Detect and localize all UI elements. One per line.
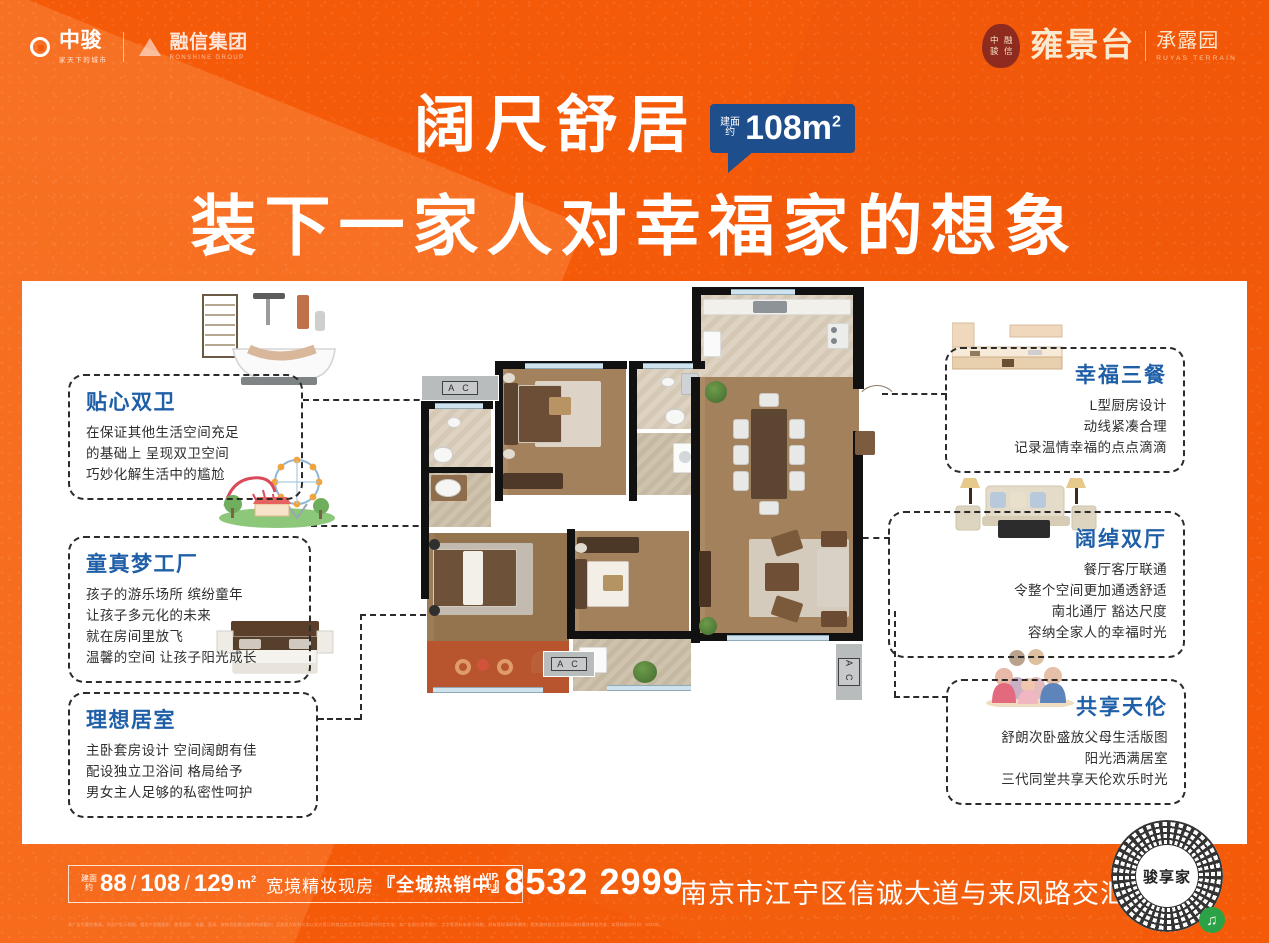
promo-area-1: 88 bbox=[100, 870, 127, 898]
headline-line-1: 阔尺舒居 bbox=[414, 92, 698, 157]
sofa bbox=[817, 549, 849, 607]
ac-unit-center: A C bbox=[543, 651, 595, 677]
side-table bbox=[821, 531, 847, 547]
ac-label: A C bbox=[838, 658, 860, 686]
vip-label-group: VIP 025 bbox=[482, 872, 498, 893]
floor-plan: A C A C bbox=[407, 281, 907, 811]
qr-center-label: 骏享家 bbox=[1136, 845, 1198, 907]
callout-title: 童真梦工厂 bbox=[86, 548, 293, 578]
balcony-decor bbox=[455, 659, 471, 675]
coffee-table bbox=[765, 563, 799, 591]
dining-chair bbox=[733, 445, 749, 465]
lamp bbox=[503, 449, 515, 459]
window bbox=[525, 363, 603, 369]
window bbox=[727, 635, 829, 641]
window bbox=[607, 685, 691, 691]
promo-description: 宽境精妆现房 bbox=[266, 872, 374, 897]
developer-secondary-en: RONSHINE GROUP bbox=[170, 55, 248, 61]
side-table bbox=[429, 539, 440, 550]
callout-line: L型厨房设计 bbox=[963, 396, 1167, 417]
callout-line: 阳光洒满居室 bbox=[964, 749, 1168, 770]
headline-line-2: 装下一家人对幸福家的想象 bbox=[0, 173, 1269, 269]
project-sub-name-en: RUYAS TERRAIN bbox=[1156, 55, 1237, 62]
area-badge-number: 108m bbox=[745, 109, 832, 147]
plant bbox=[699, 617, 717, 635]
callout-line: 温馨的空间 让孩子阳光成长 bbox=[86, 648, 293, 669]
wall bbox=[853, 291, 864, 383]
area-badge: 建面 约 108m2 bbox=[710, 104, 855, 153]
wechat-icon: ♫ bbox=[1199, 907, 1225, 933]
dining-table bbox=[751, 409, 787, 499]
stove bbox=[827, 323, 849, 349]
sink bbox=[661, 377, 675, 387]
promo-separator-2: / bbox=[184, 873, 190, 896]
window bbox=[731, 289, 795, 295]
stove-burner bbox=[831, 327, 837, 333]
callout-title: 阔绰双厅 bbox=[906, 523, 1167, 553]
project-sub-name: 承露园 bbox=[1156, 31, 1237, 51]
callout-line: 孩子的游乐场所 缤纷童年 bbox=[86, 585, 293, 606]
developer-primary-tagline: 家天下的城市 bbox=[59, 54, 108, 64]
bathtub-icon bbox=[197, 291, 342, 386]
sink bbox=[447, 417, 461, 428]
callout-line: 令整个空间更加通透舒适 bbox=[906, 581, 1167, 602]
ronshine-logo-icon bbox=[139, 38, 161, 56]
developer-secondary-name: 融信集团 bbox=[170, 33, 248, 52]
promo-unit-text: m bbox=[237, 876, 251, 893]
project-seal-icon: 中 融 骏 信 bbox=[982, 24, 1020, 68]
legal-disclaimer: 本广告为要约邀请，不因户型示例图、相关户型图面积、使用面积、电器、家具、装饰及配… bbox=[68, 922, 1119, 928]
wall bbox=[567, 529, 575, 639]
wall bbox=[853, 431, 863, 639]
seal-char-4: 信 bbox=[1001, 46, 1015, 57]
wall bbox=[853, 377, 864, 389]
callout-line: 巧妙化解生活中的尴尬 bbox=[86, 465, 285, 486]
logo-divider bbox=[123, 32, 124, 62]
dining-chair bbox=[759, 501, 779, 515]
promo-area-3: 129 bbox=[194, 870, 234, 898]
callout-title: 共享天伦 bbox=[964, 691, 1168, 721]
lamp bbox=[575, 543, 587, 553]
seal-char-1: 中 bbox=[987, 35, 1001, 46]
promo-prefix: 建面 约 bbox=[81, 875, 97, 893]
wall bbox=[421, 467, 493, 473]
entry-door-swing bbox=[855, 385, 899, 429]
callout-master-bedroom[interactable]: 理想居室 主卧套房设计 空间阔朗有佳 配设独立卫浴间 格局给予 男女主人足够的私… bbox=[68, 692, 318, 818]
callout-family-together[interactable]: 共享天伦 舒朗次卧盛放父母生活版图 阳光洒满居室 三代同堂共享天伦欢乐时光 bbox=[946, 679, 1186, 805]
callout-line: 主卧套房设计 空间阔朗有佳 bbox=[86, 741, 300, 762]
callout-line: 容纳全家人的幸福时光 bbox=[906, 623, 1167, 644]
project-logo-group: 中 融 骏 信 雍景台 承露园 RUYAS TERRAIN bbox=[982, 24, 1237, 68]
ac-unit-right: A C bbox=[835, 643, 863, 701]
callout-title: 理想居室 bbox=[86, 704, 300, 734]
callout-line: 三代同堂共享天伦欢乐时光 bbox=[964, 770, 1168, 791]
promo-prefix-2: 约 bbox=[81, 884, 97, 893]
project-name: 雍景台 bbox=[1030, 30, 1135, 63]
promo-unit-sup: 2 bbox=[251, 874, 256, 884]
wardrobe bbox=[503, 473, 563, 489]
callout-line: 记录温情幸福的点点滴滴 bbox=[963, 438, 1167, 459]
ac-label: A C bbox=[442, 381, 478, 395]
plant bbox=[633, 661, 657, 683]
developer-primary-name: 中骏 bbox=[59, 30, 108, 51]
area-badge-value: 108m2 bbox=[745, 111, 841, 145]
dining-chair bbox=[789, 445, 805, 465]
wall bbox=[421, 533, 429, 599]
promo-separator-1: / bbox=[131, 873, 137, 896]
nightstand bbox=[603, 575, 623, 591]
footer-bar: 建面 约 88 / 108 / 129 m2 宽境精妆现房 『全城热销中』 VI… bbox=[0, 848, 1269, 943]
ac-label: A C bbox=[551, 657, 587, 671]
connector-line-3 bbox=[318, 718, 360, 720]
promo-box: 建面 约 88 / 108 / 129 m2 宽境精妆现房 『全城热销中』 bbox=[68, 865, 523, 903]
bed-headboard bbox=[504, 383, 518, 445]
vip-label: VIP bbox=[482, 872, 498, 883]
callout-kids-room[interactable]: 童真梦工厂 孩子的游乐场所 缤纷童年 让孩子多元化的未来 就在房间里放飞 温馨的… bbox=[68, 536, 311, 683]
dining-chair bbox=[789, 471, 805, 491]
callout-line: 动线紧凑合理 bbox=[963, 417, 1167, 438]
callout-line: 舒朗次卧盛放父母生活版图 bbox=[964, 728, 1168, 749]
area-badge-prefix: 建面 约 bbox=[720, 118, 740, 139]
wall bbox=[629, 361, 637, 501]
callout-line: 配设独立卫浴间 格局给予 bbox=[86, 762, 300, 783]
lamp bbox=[503, 373, 515, 383]
connector-line-3b bbox=[360, 614, 362, 720]
zhongjun-logo-icon bbox=[30, 37, 50, 57]
side-table bbox=[429, 605, 440, 616]
promo-area-2: 108 bbox=[140, 870, 180, 898]
window bbox=[433, 687, 543, 693]
dining-chair bbox=[733, 419, 749, 439]
wall bbox=[567, 631, 695, 639]
bed-headboard bbox=[575, 559, 587, 609]
promo-unit: m2 bbox=[237, 874, 256, 893]
callout-line: 男女主人足够的私密性呵护 bbox=[86, 783, 300, 804]
headline-block: 阔尺舒居 建面 约 108m2 装下一家人对幸福家的想象 bbox=[0, 92, 1269, 269]
dining-chair bbox=[789, 419, 805, 439]
entry-cabinet bbox=[855, 431, 875, 455]
callout-line: 的基础上 呈现双卫空间 bbox=[86, 444, 285, 465]
dining-chair bbox=[733, 471, 749, 491]
vip-phone-block[interactable]: VIP 025 8532 2999 bbox=[482, 864, 684, 900]
seal-char-3: 骏 bbox=[987, 46, 1001, 57]
callout-title: 幸福三餐 bbox=[963, 359, 1167, 389]
callout-dual-bathroom[interactable]: 贴心双卫 在保证其他生活空间充足 的基础上 呈现双卫空间 巧妙化解生活中的尴尬 bbox=[68, 374, 303, 500]
window bbox=[643, 363, 693, 369]
phone-number: 8532 2999 bbox=[504, 864, 683, 900]
developer-logo-group: 中骏 家天下的城市 融信集团 RONSHINE GROUP bbox=[30, 30, 248, 64]
kitchen-sink bbox=[753, 301, 787, 313]
fridge bbox=[703, 331, 721, 357]
sales-office-address: 南京市江宁区信诚大道与来凤路交汇处 bbox=[680, 872, 1156, 911]
stove-burner bbox=[831, 338, 837, 344]
callout-line: 就在房间里放飞 bbox=[86, 627, 293, 648]
tv-cabinet bbox=[699, 551, 711, 607]
area-badge-superscript: 2 bbox=[832, 114, 841, 131]
balcony-decor bbox=[497, 659, 513, 675]
callout-line: 南北通厅 豁达尺度 bbox=[906, 602, 1167, 623]
callout-line: 在保证其他生活空间充足 bbox=[86, 423, 285, 444]
project-logo-divider bbox=[1145, 31, 1146, 61]
area-badge-prefix-2: 约 bbox=[720, 128, 740, 139]
plant bbox=[705, 381, 727, 403]
washer-door bbox=[679, 451, 691, 463]
callout-title: 贴心双卫 bbox=[86, 386, 285, 416]
seal-char-2: 融 bbox=[1001, 35, 1015, 46]
callout-kitchen[interactable]: 幸福三餐 L型厨房设计 动线紧凑合理 记录温情幸福的点点滴滴 bbox=[945, 347, 1185, 473]
side-table bbox=[821, 611, 847, 627]
balcony-decor bbox=[477, 659, 489, 671]
nightstand bbox=[549, 397, 571, 415]
toilet bbox=[433, 447, 453, 463]
ac-unit-left: A C bbox=[421, 375, 499, 401]
callout-line: 让孩子多元化的未来 bbox=[86, 606, 293, 627]
floorplan-panel: A C A C bbox=[22, 281, 1247, 844]
toilet bbox=[665, 409, 685, 425]
basin bbox=[435, 479, 461, 497]
callout-line: 餐厅客厅联通 bbox=[906, 560, 1167, 581]
bed-runner bbox=[463, 551, 483, 605]
window bbox=[435, 403, 483, 409]
dining-chair bbox=[759, 393, 779, 407]
callout-double-living[interactable]: 阔绰双厅 餐厅客厅联通 令整个空间更加通透舒适 南北通厅 豁达尺度 容纳全家人的… bbox=[888, 511, 1185, 658]
vip-area-code: 025 bbox=[482, 883, 498, 892]
